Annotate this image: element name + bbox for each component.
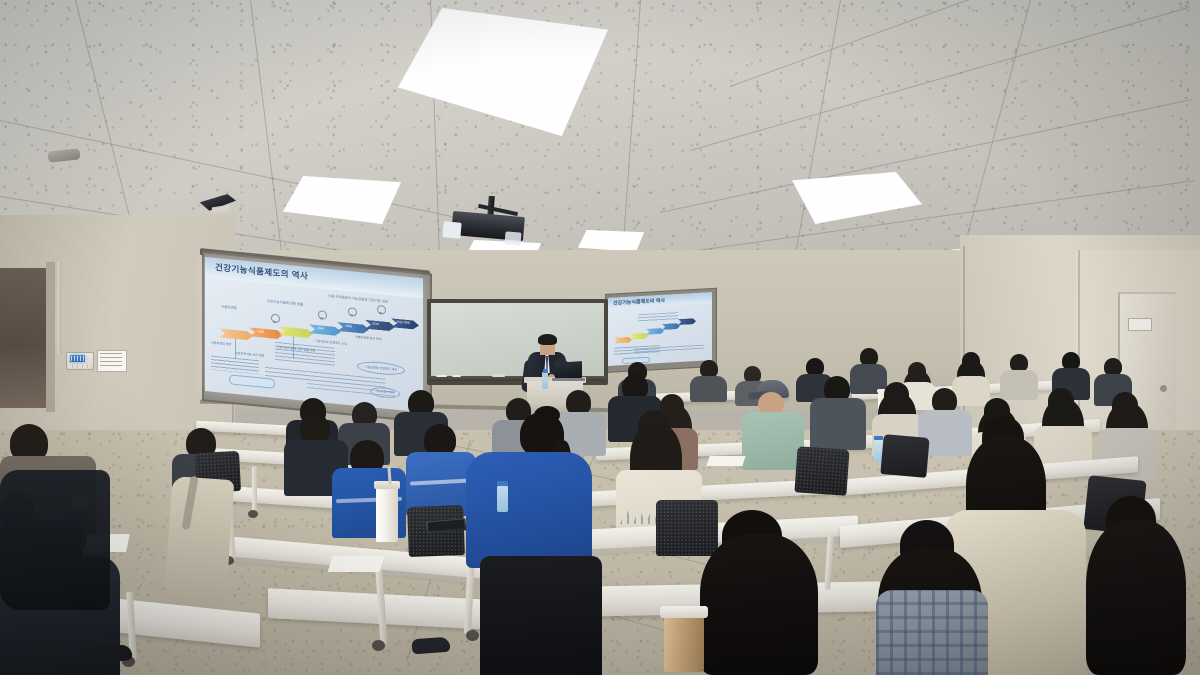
slide2-chevron <box>646 328 664 335</box>
wall-sign-text <box>100 353 122 367</box>
presenter-hair <box>538 334 557 345</box>
hvac-lcd-text <box>71 356 84 361</box>
projector-panel <box>504 231 521 245</box>
hvac-buttons[interactable] <box>68 364 90 368</box>
chair-mesh-back <box>656 500 718 556</box>
lightbulb-icon <box>318 310 325 320</box>
water-bottle-cap <box>543 369 548 373</box>
desk-leg <box>252 466 257 514</box>
slide-callout: 기능성 평가 체계 <box>370 386 400 399</box>
chair-mesh-back <box>794 446 849 496</box>
lecture-hall-photo: 건강기능식품제도의 역사 식품위생법 건강기능식품에 관한 법률 식품·의약품분… <box>0 0 1200 675</box>
tumbler-lid <box>374 481 400 489</box>
desk-caster <box>466 630 479 641</box>
slide2-chevron <box>662 323 680 330</box>
water-bottle <box>497 486 508 512</box>
slide-text-block <box>275 342 335 368</box>
slide-text-block <box>211 356 259 375</box>
door-right-sign <box>1128 318 1152 331</box>
slide2-chevron <box>630 333 648 340</box>
slide2-text <box>638 312 678 322</box>
projector-lens <box>442 221 461 239</box>
water-bottle-cap <box>497 481 508 486</box>
timeline-chevron <box>337 322 369 334</box>
timeline-chevron <box>309 324 341 336</box>
whiteboard-marker[interactable] <box>452 375 461 377</box>
slide-era-label-right: 식품·의약품분야 기능성원료 인정기준 개편 <box>328 294 400 305</box>
student-torso-far <box>1000 370 1038 400</box>
student-hair-long-foreground <box>1086 520 1186 675</box>
student-torso <box>810 398 866 450</box>
lightbulb-icon <box>271 313 278 323</box>
timeline-year: 2008 <box>345 324 352 329</box>
lightbulb-icon <box>348 307 355 317</box>
slide-era-label-left: 식품위생법 <box>221 305 237 311</box>
slide-era-label-mid: 건강기능식품에 관한 법률 <box>267 299 303 307</box>
student-lower-body <box>480 556 602 675</box>
timeline-chevron <box>365 320 395 332</box>
slide-footnote: 개별인정형 원료 확대 <box>355 336 382 342</box>
slide-body: 식품위생법 건강기능식품에 관한 법률 식품·의약품분야 기능성원료 인정기준 … <box>205 277 423 412</box>
slide2-chevron <box>678 318 696 325</box>
student-hair-bun <box>534 406 560 424</box>
door-left[interactable] <box>0 268 52 408</box>
door-right-knob[interactable] <box>1160 385 1167 392</box>
lightbulb-icon <box>377 305 384 315</box>
timeline-chevron <box>219 328 253 340</box>
student-torso-far <box>690 376 727 402</box>
desk-caster <box>372 640 385 651</box>
slide2-chevron <box>614 337 632 344</box>
slide-footnote: 식품위생법 제정 <box>211 342 231 348</box>
student-hair-long-foreground <box>700 534 818 675</box>
chair[interactable] <box>880 434 929 478</box>
timeline-chevron <box>279 326 313 338</box>
notebook-paper <box>328 556 385 572</box>
notebook-paper <box>706 456 745 466</box>
timeline-year: 2004 <box>317 326 324 331</box>
door-left-jamb <box>46 262 55 412</box>
wall-conduit <box>57 262 62 354</box>
backpack <box>164 476 235 608</box>
desk-caster <box>248 510 258 518</box>
timeline-stem <box>235 339 236 359</box>
main-projection-screen: 건강기능식품제도의 역사 식품위생법 건강기능식품에 관한 법률 식품·의약품분… <box>205 257 423 412</box>
slide-callout: 기능성원료 인정제도 개선 <box>357 360 405 377</box>
student-torso-foreground-blue <box>466 452 592 568</box>
secondary-projection-screen: 건강기능식품제도의 역사 <box>608 292 712 366</box>
student-torso-far <box>952 376 990 406</box>
timeline-year: 2016 <box>372 321 379 326</box>
coffee-cup-lid <box>660 606 708 618</box>
timeline-chevron <box>249 327 283 339</box>
timeline-year: 1989 <box>257 329 264 334</box>
coat-on-chair <box>0 470 110 610</box>
coffee-cup <box>664 612 704 672</box>
shoe <box>412 637 451 655</box>
whiteboard-marker[interactable] <box>436 375 447 377</box>
student-torso-green <box>742 412 804 470</box>
water-bottle-cap <box>874 436 883 440</box>
whiteboard-eraser[interactable] <box>492 374 505 377</box>
student-plaid-shirt <box>876 590 988 675</box>
thermos-tumbler <box>376 486 398 542</box>
laptop-base <box>552 378 585 381</box>
presenter-water-bottle <box>542 372 548 389</box>
